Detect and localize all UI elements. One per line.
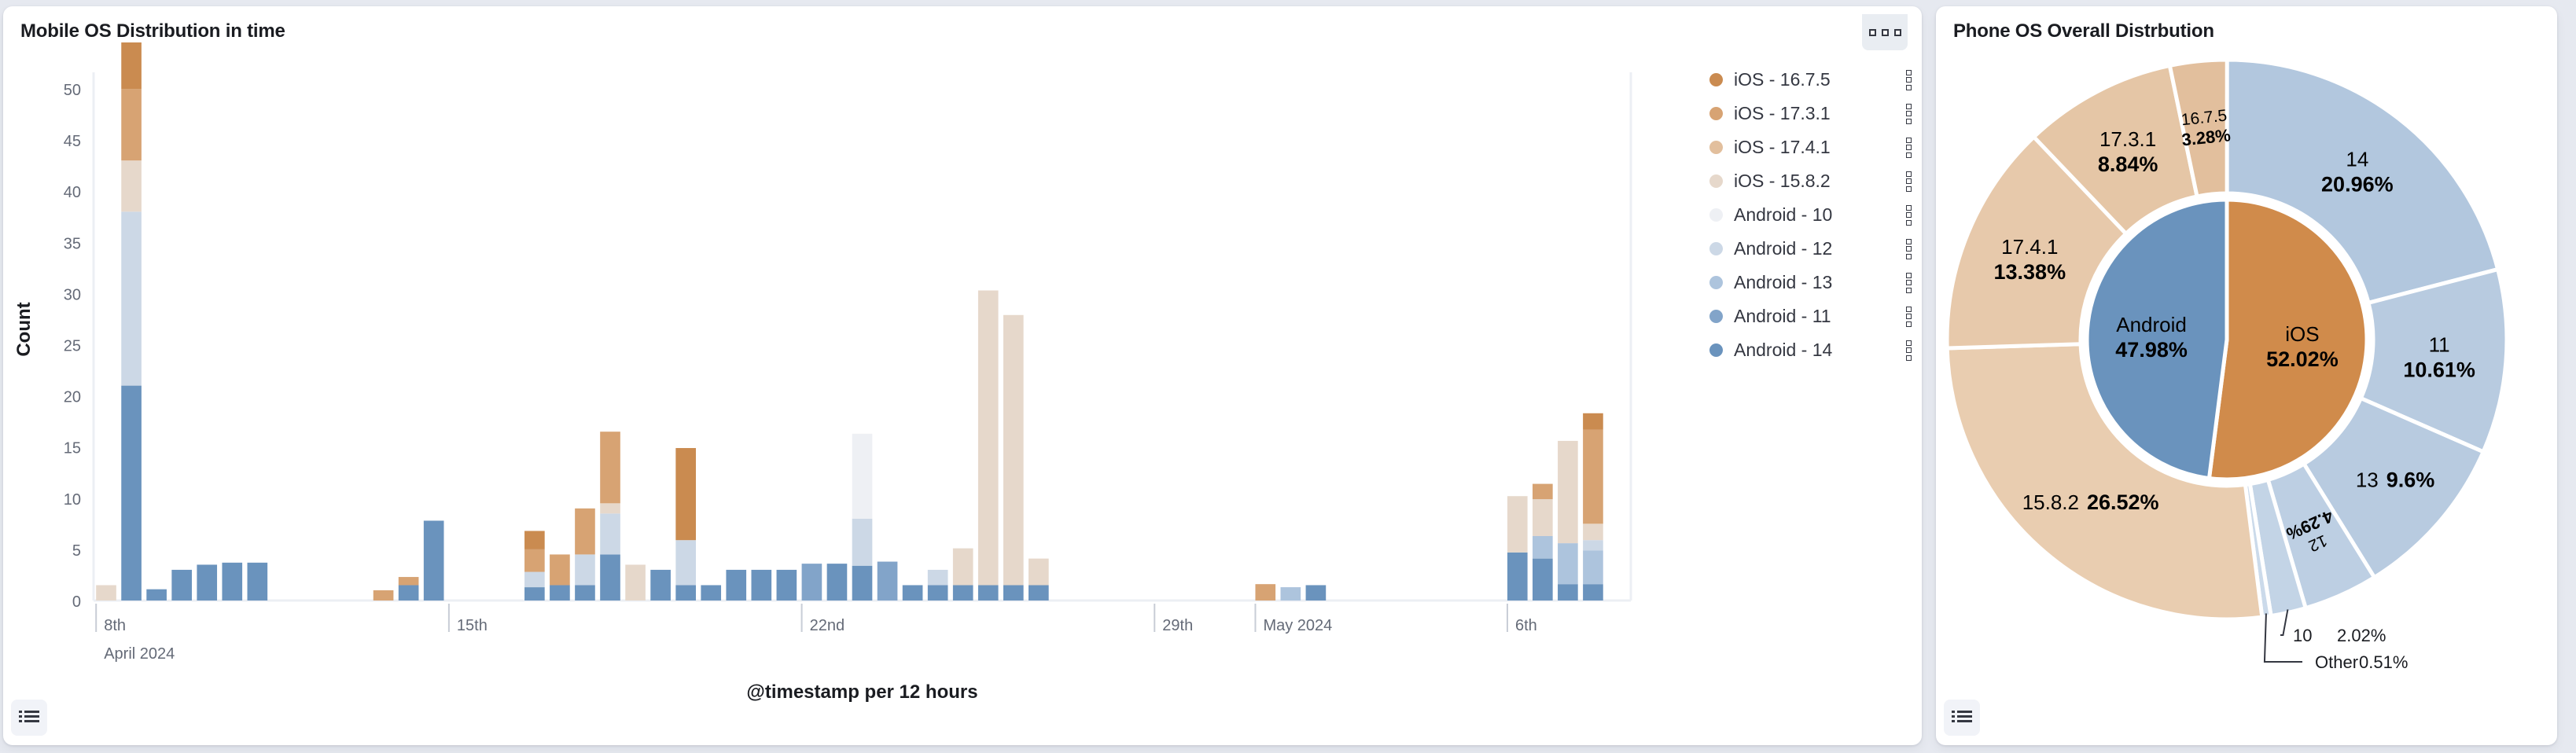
bar-segment[interactable]	[1558, 441, 1578, 543]
bar-segment[interactable]	[650, 570, 671, 601]
pie-slice-value: 9.6%	[2386, 468, 2435, 492]
drag-grip-icon[interactable]	[1901, 239, 1915, 259]
bar-segment[interactable]	[827, 564, 848, 601]
legend-item[interactable]: iOS - 17.4.1	[1709, 130, 1915, 164]
bar-segment[interactable]	[121, 211, 142, 385]
svg-text:20: 20	[64, 389, 81, 406]
bar-segment[interactable]	[1306, 585, 1327, 601]
legend-item[interactable]: Android - 12	[1709, 232, 1915, 266]
pie-inner-ring: iOS52.02%Android47.98%	[2087, 200, 2367, 479]
legend-dot-icon	[1709, 310, 1723, 323]
drag-grip-icon[interactable]	[1901, 273, 1915, 293]
bar-segment[interactable]	[1583, 430, 1603, 524]
legend-item[interactable]: iOS - 17.3.1	[1709, 97, 1915, 130]
pie-slice-value: 10.61%	[2403, 358, 2475, 382]
legend-item-label: Android - 14	[1734, 340, 1901, 361]
pie-slice-label: 15.8.2	[2022, 490, 2079, 514]
pie-slice-label-group: 139.6%	[2356, 468, 2434, 492]
legend-dot-icon	[1709, 107, 1723, 120]
svg-text:35: 35	[64, 235, 81, 252]
x-axis-tick-label: 8th	[104, 617, 126, 634]
bar-segment[interactable]	[1533, 484, 1553, 500]
y-axis-tick: 20	[64, 389, 81, 406]
ellipsis-horizontal-icon	[1894, 29, 1901, 36]
drag-grip-icon[interactable]	[1901, 171, 1915, 192]
pie-slice-label-group: 15.8.226.52%	[2022, 490, 2159, 514]
svg-text:25: 25	[64, 338, 81, 355]
pie-slice-value: 8.84%	[2098, 152, 2158, 176]
drag-grip-icon[interactable]	[1901, 340, 1915, 361]
bar-segment[interactable]	[600, 554, 620, 601]
bar-segment[interactable]	[1029, 559, 1049, 586]
legend-item[interactable]: iOS - 15.8.2	[1709, 164, 1915, 198]
bar-segment[interactable]	[1507, 553, 1528, 601]
pie-callouts: 102.02%Other0.51%	[2265, 609, 2408, 672]
bar-segment[interactable]	[1583, 540, 1603, 550]
legend-item-label: Android - 12	[1734, 238, 1901, 259]
bar-segment[interactable]	[878, 562, 898, 601]
pie-slice-label: iOS	[2285, 322, 2319, 346]
bar-segment[interactable]	[903, 585, 923, 601]
legend-dot-icon	[1709, 208, 1723, 222]
bar-segment[interactable]	[928, 570, 948, 586]
pie-slice-value: 47.98%	[2115, 338, 2188, 362]
legend-item[interactable]: Android - 11	[1709, 299, 1915, 333]
svg-text:50: 50	[64, 82, 81, 99]
pie-callout-label: 10	[2293, 626, 2312, 645]
bar-segment[interactable]	[550, 554, 570, 585]
legend-item[interactable]: iOS - 16.7.5	[1709, 63, 1915, 97]
svg-text:45: 45	[64, 133, 81, 150]
x-axis-tick: May 2024	[1255, 604, 1332, 634]
list-icon	[19, 710, 39, 725]
pie-slice-label: 17.3.1	[2099, 127, 2156, 151]
bar-segment[interactable]	[399, 585, 419, 601]
pie-slice-label: 13	[2356, 468, 2379, 492]
ellipsis-horizontal-icon	[1882, 29, 1889, 36]
bar-segment[interactable]	[575, 554, 595, 585]
bar-segment[interactable]	[1583, 584, 1603, 601]
drag-grip-icon[interactable]	[1901, 205, 1915, 226]
bar-segment[interactable]	[701, 585, 721, 601]
bar-series	[121, 211, 1603, 587]
pie-slice-label: 11	[2429, 333, 2450, 357]
y-axis-tick: 0	[72, 593, 81, 611]
bar-segment[interactable]	[121, 89, 142, 160]
y-axis-tick: 35	[64, 235, 81, 252]
panel-phone-os-overall: Phone OS Overall Distrbution iOS52.02%An…	[1936, 6, 2557, 745]
ellipsis-horizontal-icon	[1869, 29, 1876, 36]
y-axis-tick: 25	[64, 338, 81, 355]
bar-segment[interactable]	[978, 291, 999, 586]
y-axis-tick: 5	[72, 542, 81, 560]
pie-svg: iOS52.02%Android47.98%1420.96%1110.61%13…	[1936, 47, 2557, 739]
bar-segment[interactable]	[524, 549, 545, 572]
bar-segment[interactable]	[978, 585, 999, 601]
x-axis-tick-label: May 2024	[1263, 617, 1332, 634]
pie-slice-label: 17.4.1	[2001, 235, 2058, 259]
bar-segment[interactable]	[248, 563, 268, 601]
bar-segment[interactable]	[1583, 550, 1603, 584]
page-title: Mobile OS Distribution in time	[20, 20, 285, 42]
bar-segment[interactable]	[121, 42, 142, 89]
bar-segment[interactable]	[928, 585, 948, 601]
drag-grip-icon[interactable]	[1901, 307, 1915, 327]
legend-item-label: Android - 13	[1734, 272, 1901, 293]
pie-slice-label: Android	[2116, 313, 2187, 336]
bar-segment[interactable]	[197, 564, 217, 601]
bar-segment[interactable]	[675, 585, 696, 601]
bar-segment[interactable]	[1583, 413, 1603, 430]
bar-segment[interactable]	[777, 570, 797, 601]
legend-dot-icon	[1709, 343, 1723, 357]
drag-grip-icon[interactable]	[1901, 70, 1915, 90]
legend-item[interactable]: Android - 13	[1709, 266, 1915, 299]
bar-segment[interactable]	[399, 577, 419, 585]
x-axis-tick: 29th	[1154, 604, 1193, 634]
legend-toggle-button[interactable]	[11, 700, 47, 736]
bar-segment[interactable]	[1507, 496, 1528, 553]
bar-segment[interactable]	[374, 590, 394, 601]
chart-legend: iOS - 16.7.5iOS - 17.3.1iOS - 17.4.1iOS …	[1709, 63, 1915, 367]
legend-dot-icon	[1709, 276, 1723, 289]
bar-segment[interactable]	[1003, 315, 1024, 586]
bar-segment[interactable]	[424, 520, 444, 601]
svg-text:10: 10	[64, 491, 81, 509]
y-axis-tick: 45	[64, 133, 81, 150]
x-axis-tick: 6th	[1507, 604, 1537, 634]
x-axis-tick-label: 29th	[1162, 617, 1193, 634]
page-title: Phone OS Overall Distrbution	[1953, 20, 2214, 42]
legend-item-label: iOS - 17.4.1	[1734, 137, 1901, 158]
bar-segment[interactable]	[575, 509, 595, 555]
legend-dot-icon	[1709, 174, 1723, 188]
legend-item-label: Android - 11	[1734, 306, 1901, 327]
x-axis-tick-label: 6th	[1515, 617, 1537, 634]
x-axis-tick: 22nd	[802, 604, 845, 634]
bar-segment[interactable]	[675, 448, 696, 540]
bar-segment[interactable]	[524, 587, 545, 601]
svg-text:30: 30	[64, 286, 81, 303]
pie-chart: iOS52.02%Android47.98%1420.96%1110.61%13…	[1936, 47, 2557, 739]
legend-dot-icon	[1709, 73, 1723, 86]
pie-slice-label: 14	[2346, 148, 2368, 171]
bar-segment[interactable]	[524, 572, 545, 588]
bar-segment[interactable]	[1029, 585, 1049, 601]
y-axis-tick: 50	[64, 82, 81, 99]
drag-grip-icon[interactable]	[1901, 138, 1915, 158]
bar-segment[interactable]	[953, 585, 973, 601]
timeseries-chart: 05101520253035404550Count8thApril 202415…	[3, 42, 1922, 711]
drag-grip-icon[interactable]	[1901, 104, 1915, 124]
y-axis-tick: 40	[64, 184, 81, 201]
pie-slice-value: 20.96%	[2321, 173, 2394, 197]
dashboard-root: Mobile OS Distribution in time 051015202…	[0, 0, 2576, 753]
legend-item[interactable]: Android - 14	[1709, 333, 1915, 367]
legend-item-label: Android - 10	[1734, 204, 1901, 226]
y-axis-tick: 15	[64, 440, 81, 457]
pie-slice-value: 13.38%	[1994, 260, 2066, 284]
bar-segment[interactable]	[852, 566, 873, 601]
bar-segment[interactable]	[171, 570, 192, 601]
bar-segment[interactable]	[953, 549, 973, 586]
bar-segment[interactable]	[600, 513, 620, 554]
bar-segment[interactable]	[600, 503, 620, 513]
panel-mobile-os-distribution: Mobile OS Distribution in time 051015202…	[3, 6, 1922, 745]
bar-segment[interactable]	[751, 570, 771, 601]
legend-dot-icon	[1709, 242, 1723, 255]
bar-segment[interactable]	[1255, 584, 1275, 601]
bar-segment[interactable]	[1533, 499, 1553, 536]
bar-segment[interactable]	[524, 531, 545, 549]
pie-callout-label: Other	[2315, 652, 2358, 672]
legend-item-label: iOS - 17.3.1	[1734, 103, 1901, 124]
bar-series	[96, 160, 1603, 601]
bar-segment[interactable]	[550, 585, 570, 601]
bar-segment[interactable]	[625, 564, 646, 601]
bar-segment[interactable]	[96, 585, 116, 601]
y-axis-tick: 30	[64, 286, 81, 303]
timeseries-svg: 05101520253035404550Count8thApril 202415…	[3, 42, 1922, 711]
bar-segment[interactable]	[1281, 587, 1301, 601]
legend-toggle-button[interactable]	[1944, 700, 1980, 736]
legend-item-label: iOS - 16.7.5	[1734, 69, 1901, 90]
legend-item-label: iOS - 15.8.2	[1734, 171, 1901, 192]
x-axis-tick-label: 22nd	[810, 617, 845, 634]
bar-series	[1281, 536, 1603, 601]
bar-segment[interactable]	[1583, 523, 1603, 540]
pie-callout-value: 2.02%	[2337, 626, 2386, 645]
pie-slice-value: 26.52%	[2087, 490, 2159, 514]
svg-text:40: 40	[64, 184, 81, 201]
legend-dot-icon	[1709, 141, 1723, 154]
pie-callout-value: 0.51%	[2359, 652, 2408, 672]
legend-item[interactable]: Android - 10	[1709, 198, 1915, 232]
bar-segment[interactable]	[121, 160, 142, 211]
bar-segment[interactable]	[675, 540, 696, 585]
bar-segment[interactable]	[222, 563, 242, 601]
x-axis-tick-label: 15th	[457, 617, 488, 634]
x-axis-tick: 15th	[449, 604, 488, 634]
bar-segment[interactable]	[600, 432, 620, 503]
x-axis-title: @timestamp per 12 hours	[746, 681, 977, 703]
x-axis-tick: 8thApril 2024	[96, 604, 175, 663]
x-axis-tick-sublabel: April 2024	[104, 645, 175, 663]
bar-series	[852, 434, 873, 519]
bar-segment[interactable]	[1558, 543, 1578, 584]
bar-segment[interactable]	[146, 590, 167, 601]
bar-segment[interactable]	[121, 386, 142, 601]
bar-segment[interactable]	[802, 564, 822, 601]
y-axis-tick: 10	[64, 491, 81, 509]
bar-segment[interactable]	[726, 570, 746, 601]
svg-text:15: 15	[64, 440, 81, 457]
svg-text:5: 5	[72, 542, 81, 560]
bar-segment[interactable]	[852, 519, 873, 566]
bar-segment[interactable]	[575, 585, 595, 601]
bar-segment[interactable]	[1558, 584, 1578, 601]
bar-segment[interactable]	[1533, 536, 1553, 559]
bar-segment[interactable]	[1003, 585, 1024, 601]
pie-slice-value: 52.02%	[2266, 347, 2339, 371]
y-axis-title: Count	[13, 302, 35, 356]
bar-segment[interactable]	[852, 434, 873, 519]
bar-series	[802, 562, 898, 601]
list-icon	[1952, 710, 1972, 725]
bar-segment[interactable]	[1533, 559, 1553, 601]
pie-slice-label-group: 16.7.53.28%	[2179, 106, 2232, 149]
svg-text:0: 0	[72, 593, 81, 611]
